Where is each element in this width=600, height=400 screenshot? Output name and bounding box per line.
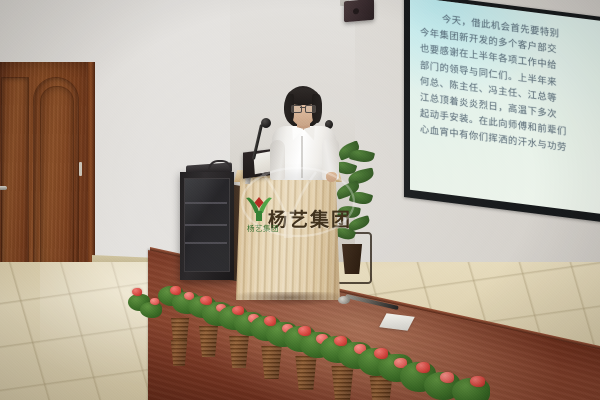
plant-basket [328, 366, 357, 400]
anthurium-bloom [170, 286, 181, 295]
anthurium-bloom [132, 288, 142, 296]
plant-basket [258, 346, 285, 379]
plant-foliage [140, 302, 162, 318]
plant-basket [168, 340, 190, 366]
anthurium-bloom [440, 372, 454, 383]
photo-scene: 今天，借此机会首先要特别 今年集团新开发的多个客户部交 也要感谢在上半年各项工作… [0, 0, 600, 400]
anthurium-bloom [334, 336, 347, 346]
plant-basket [226, 336, 252, 368]
anthurium-bloom [264, 316, 276, 326]
anthurium-bloom [232, 306, 244, 315]
anthurium-row [0, 0, 600, 400]
anthurium-bloom [298, 326, 311, 336]
anthurium-bloom [150, 298, 159, 305]
plant-basket [196, 326, 221, 357]
plant-basket [292, 356, 320, 390]
anthurium-bloom [374, 348, 388, 359]
anthurium-bloom [200, 296, 212, 305]
anthurium-bloom [416, 362, 430, 373]
anthurium-bloom [470, 376, 485, 387]
